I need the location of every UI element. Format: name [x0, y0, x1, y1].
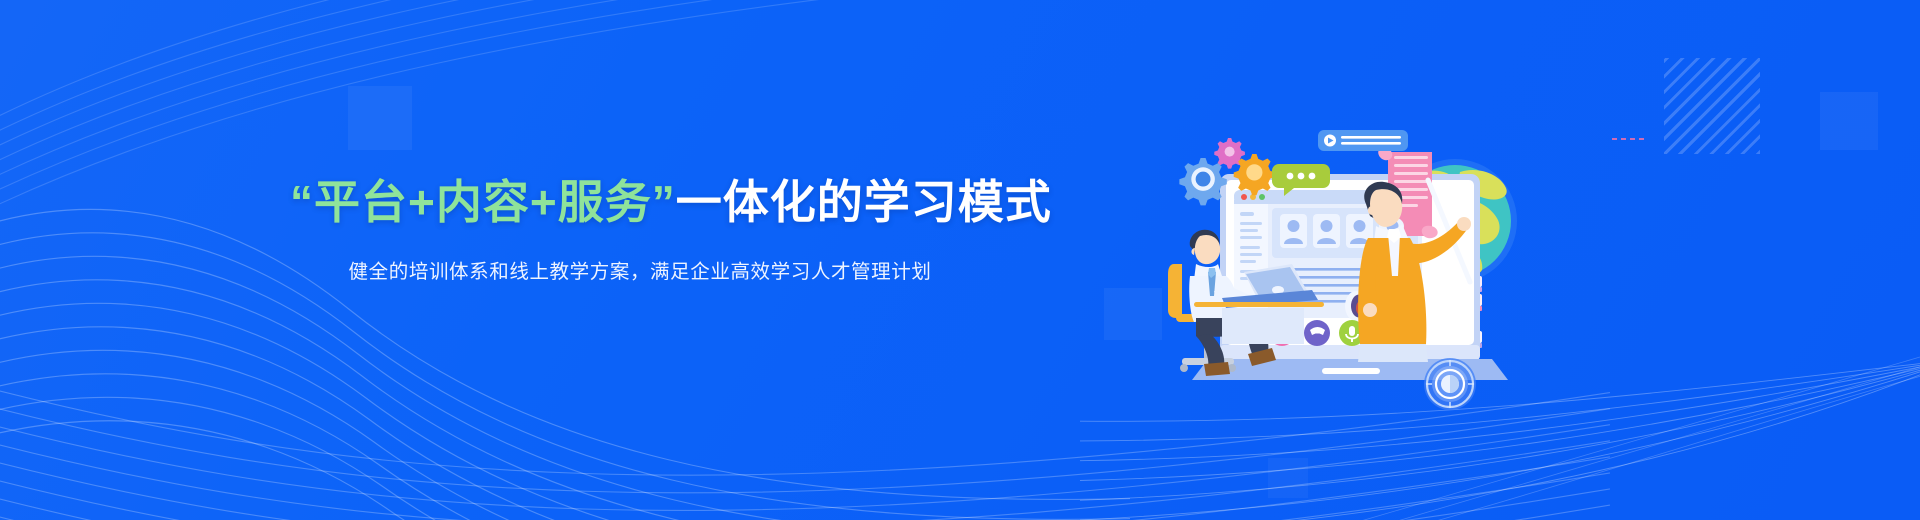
decorative-square-mid — [1104, 288, 1162, 340]
call-button-hangup[interactable] — [1304, 320, 1330, 346]
headline-quote-close: ” — [652, 176, 676, 228]
camera-lens-badge-icon — [1424, 358, 1476, 410]
hero-copy: “平台+内容+服务”一体化的学习模式 健全的培训体系和线上教学方案，满足企业高效… — [290, 175, 990, 284]
window-maximize-dot — [1259, 194, 1265, 200]
decorative-square-topright — [1820, 92, 1878, 150]
page-title: “平台+内容+服务”一体化的学习模式 — [290, 175, 990, 229]
decorative-square-topleft — [348, 86, 412, 150]
headline-accent: 平台+内容+服务 — [314, 176, 652, 228]
video-player-card-icon — [1318, 130, 1408, 151]
decorative-square-bottom — [1268, 458, 1308, 498]
diagonal-hatch-square — [1664, 58, 1760, 154]
pink-dashed-line — [1612, 138, 1648, 140]
window-close-dot — [1241, 194, 1247, 200]
headline-quote-open: “ — [290, 176, 314, 228]
avatar-card — [1280, 214, 1307, 248]
gear-orange-icon — [1234, 154, 1275, 195]
hero-banner: “平台+内容+服务”一体化的学习模式 健全的培训体系和线上教学方案，满足企业高效… — [0, 0, 1920, 520]
gear-blue-icon — [1179, 158, 1226, 205]
avatar-card — [1313, 214, 1340, 248]
page-subtitle: 健全的培训体系和线上教学方案，满足企业高效学习人才管理计划 — [290, 255, 990, 284]
online-learning-illustration — [1160, 96, 1560, 436]
headline-rest: 一体化的学习模式 — [676, 176, 1052, 228]
